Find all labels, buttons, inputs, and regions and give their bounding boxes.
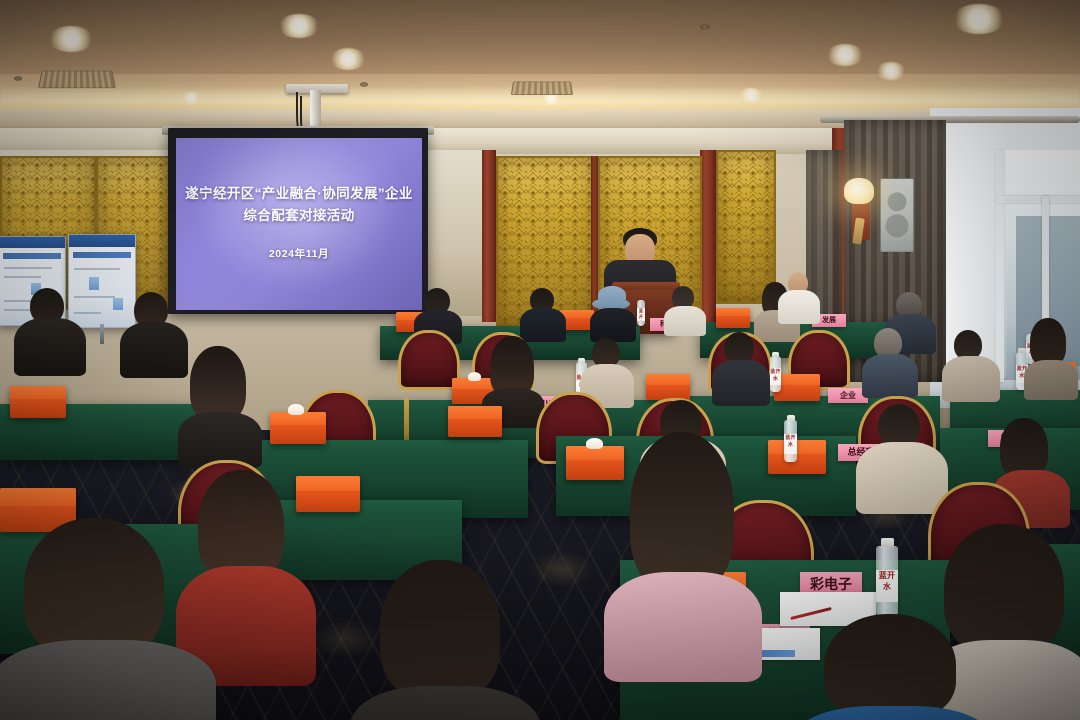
attendee-torso — [862, 354, 918, 398]
attendee-torso — [664, 306, 706, 336]
slide-title-line1: 遂宁经开区“产业融合·协同发展”企业 — [176, 186, 422, 203]
tissue-box — [10, 386, 66, 418]
tissue-box-lid — [716, 308, 750, 316]
downlight-icon — [876, 62, 906, 80]
tissue-box-lid — [768, 440, 826, 454]
water-bottle: 蓝开水 — [770, 356, 781, 392]
bottle-cap — [787, 415, 795, 421]
downlight-icon — [278, 14, 320, 38]
tissue-box — [646, 374, 690, 400]
bottle-cap — [881, 538, 894, 547]
chair-leg — [404, 398, 409, 444]
attendee-torso — [778, 290, 820, 324]
downlight-icon — [180, 92, 202, 105]
bottle-cap — [772, 352, 779, 357]
attendee-torso — [120, 322, 188, 378]
ceiling-slab — [0, 0, 1080, 74]
sprinkler-head-icon — [360, 82, 368, 87]
bottle-cap — [1018, 348, 1026, 353]
attendee-torso — [1024, 360, 1078, 400]
tissue-box — [448, 406, 502, 437]
sconce-lamp-icon — [844, 178, 874, 204]
projection-screen: 遂宁经开区“产业融合·协同发展”企业 综合配套对接活动 2024年11月 — [176, 138, 422, 310]
downlight-icon — [48, 26, 94, 52]
bottle-label: 蓝开水 — [770, 368, 781, 385]
tissue-box-lid — [448, 406, 502, 419]
tissue-box — [716, 308, 750, 328]
slide-date: 2024年11月 — [176, 248, 422, 261]
tissue-box — [768, 440, 826, 474]
downlight-icon — [330, 48, 366, 70]
tissue-box-lid — [0, 488, 76, 506]
info-board — [68, 234, 136, 328]
air-vent-grille — [38, 71, 116, 88]
bottle-label: 蓝开水 — [637, 308, 645, 321]
water-bottle: 蓝开水 — [637, 300, 645, 326]
attendee-hair — [1030, 318, 1066, 366]
banquet-chair — [398, 330, 460, 390]
board-subtitle-bar — [3, 253, 61, 259]
wall-wood-trim — [482, 150, 496, 322]
attendee-hair — [190, 346, 246, 422]
board-text-line — [74, 268, 120, 270]
downlight-icon — [738, 88, 764, 103]
bottle-label: 蓝开水 — [876, 570, 898, 602]
attendee-hair — [630, 432, 734, 592]
wall-speaker — [880, 178, 914, 252]
board-stand — [100, 324, 104, 344]
tissue-box-lid — [10, 386, 66, 399]
attendee-hair — [380, 560, 500, 700]
board-qr-chip — [113, 298, 124, 311]
tissue-box — [296, 476, 360, 512]
board-subtitle-bar — [73, 252, 131, 258]
bottle-cap — [578, 358, 585, 363]
tissue-box-lid — [646, 374, 690, 385]
attendee-hair — [944, 524, 1064, 654]
attendee-hair — [1000, 418, 1048, 478]
board-text-line — [74, 296, 115, 298]
water-bottle: 蓝开水 — [876, 546, 898, 616]
downlight-icon — [952, 4, 1006, 34]
attendee-torso — [942, 356, 1000, 402]
attendee-torso — [604, 572, 762, 682]
board-text-line — [4, 267, 52, 269]
downlight-icon — [826, 44, 864, 66]
attendee-hair — [24, 518, 164, 658]
gold-lattice-panel — [716, 150, 776, 304]
tissue-sheet — [288, 404, 304, 415]
bottle-label: 蓝开水 — [784, 434, 797, 454]
tissue-sheet — [468, 372, 481, 381]
board-qr-chip — [89, 277, 100, 290]
board-text-line — [74, 312, 100, 314]
conference-room-photo: 遂宁经开区“产业融合·协同发展”企业 综合配套对接活动 2024年11月 — [0, 0, 1080, 720]
board-header-bar — [0, 237, 65, 248]
slide-title-line2: 综合配套对接活动 — [176, 208, 422, 225]
window-mullion — [996, 196, 1080, 203]
sprinkler-head-icon — [700, 24, 710, 30]
attendee-torso — [0, 640, 216, 720]
board-header-bar — [69, 235, 135, 247]
tissue-box — [566, 446, 624, 480]
water-bottle: 蓝开水 — [784, 420, 797, 462]
board-text-line — [4, 309, 33, 311]
tissue-sheet — [586, 438, 603, 449]
attendee-torso — [590, 308, 636, 342]
attendee-hair — [824, 614, 956, 720]
attendee-torso — [14, 318, 86, 376]
attendee-torso — [712, 360, 770, 406]
air-vent-grille — [511, 82, 573, 95]
wall-wood-trim — [700, 150, 716, 330]
bucket-hat — [598, 286, 626, 304]
attendee-torso — [520, 308, 566, 342]
sprinkler-head-icon — [14, 76, 22, 81]
attendee-torso — [856, 442, 948, 514]
tissue-box — [270, 412, 326, 444]
tissue-box-lid — [296, 476, 360, 491]
board-text-line — [4, 276, 41, 278]
